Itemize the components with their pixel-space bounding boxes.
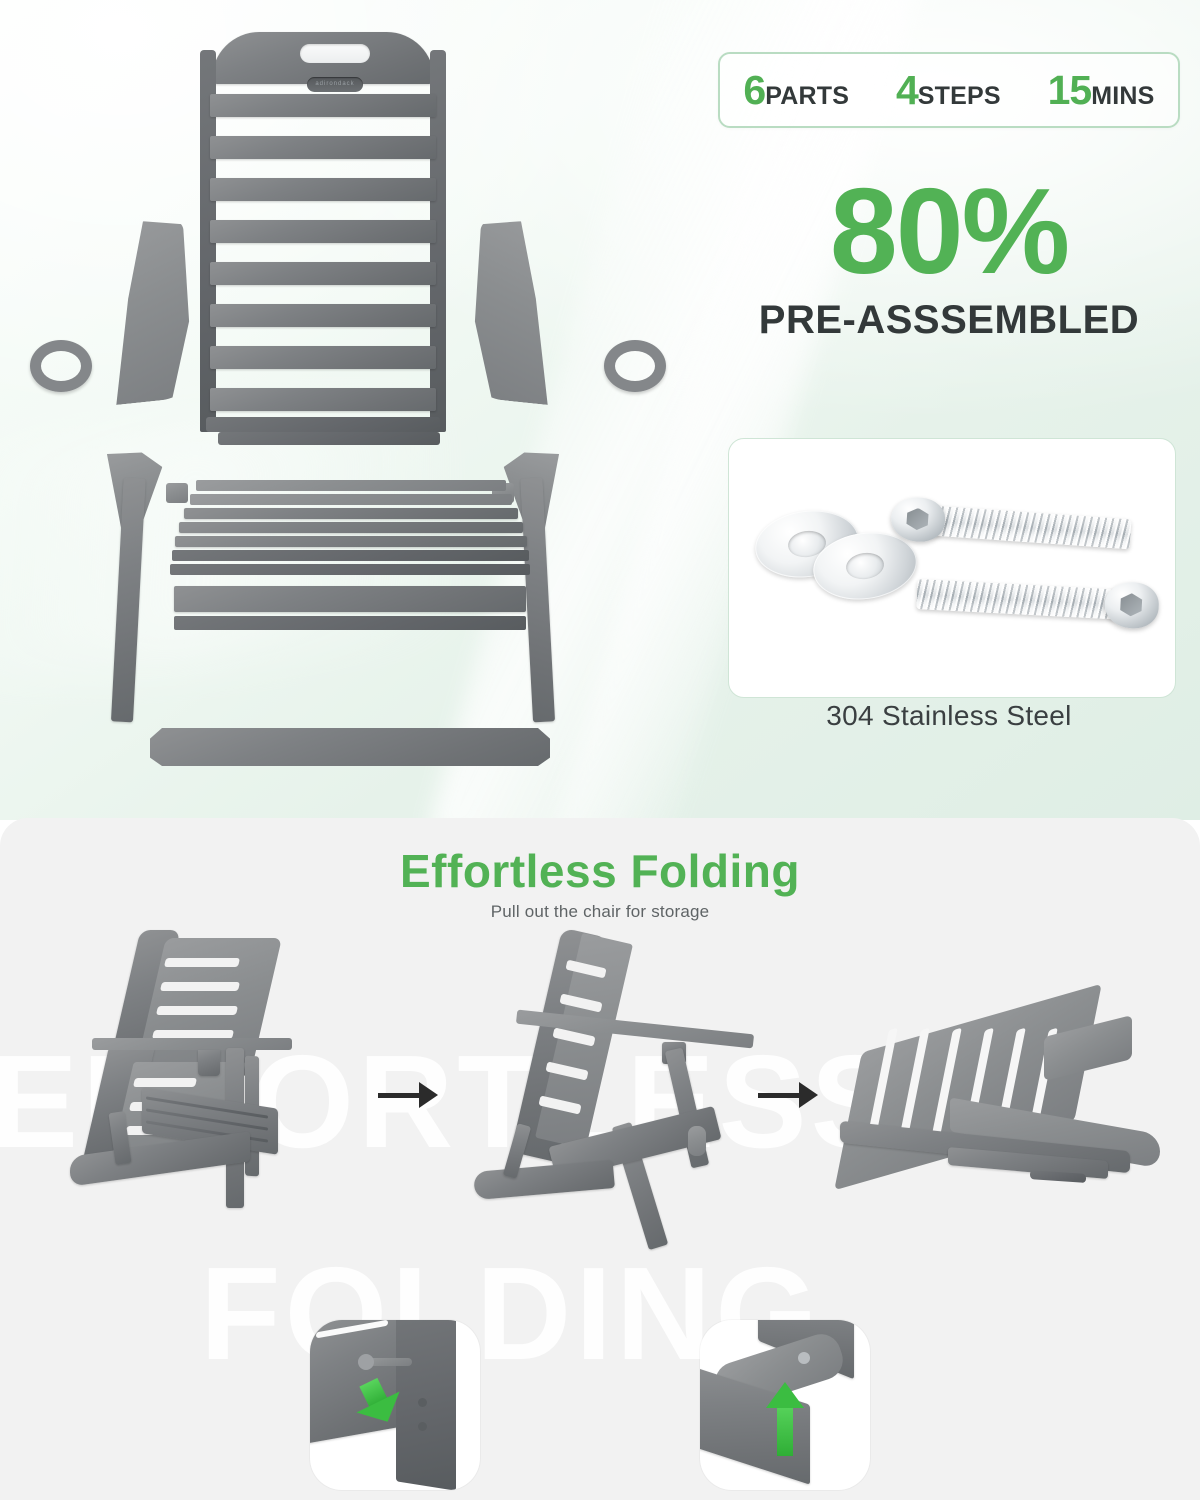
detail-leg-lift [700,1320,870,1490]
stat-parts-number: 6 [743,70,765,111]
bolt-upper-head [890,496,947,544]
stat-steps: 4 STEPS [896,70,1001,111]
back-slat [210,388,436,411]
hardware-caption: 304 Stainless Steel [718,700,1180,732]
back-slat [210,94,436,117]
arrow-head [799,1082,818,1108]
infographic-canvas: adirondack [0,0,1200,1500]
base-runner [473,1160,615,1200]
seat-slat [184,508,518,519]
stat-mins-unit: MINS [1091,84,1154,109]
detail-latch-release [310,1320,480,1490]
sequence-arrow-2 [758,1082,818,1108]
detail-screw [418,1398,427,1407]
back-slat [210,262,436,285]
stat-steps-unit: STEPS [918,84,1001,109]
seat-slat [190,494,512,505]
cup-holder-side [198,1050,220,1076]
bolt-lower [916,579,1125,620]
back-bottom-rail [206,417,440,432]
stat-parts-unit: PARTS [765,84,849,109]
seat-slat [179,522,523,533]
front-leg-left-shaft [111,478,146,723]
backrest-gap [133,1078,197,1087]
bottom-stretcher-bar [150,728,550,766]
seat-assembly [170,480,530,630]
seat-slat [170,564,530,575]
chair-folded-flat [830,1008,1180,1228]
preassembled-block: 80% PRE-ASSSEMBLED [718,170,1180,343]
armrest [92,1038,292,1050]
armrest-left [79,217,201,407]
preassembled-percent: 80% [718,170,1180,292]
hardware-card [728,438,1176,698]
arrow-line [758,1093,804,1098]
bolt-upper [924,505,1132,549]
back-slat [210,136,436,159]
stat-parts: 6 PARTS [743,70,849,111]
bolt-lower-head [1104,581,1160,630]
front-leg-left [105,451,153,722]
preassembled-caption: PRE-ASSSEMBLED [718,298,1180,343]
top-panel: adirondack [0,0,1200,820]
green-arrow-shaft [777,1404,793,1456]
cup-holder-left [30,340,92,392]
backrest-gap [164,958,240,967]
brand-logo-badge: adirondack [307,77,363,92]
armrest-left-blade [79,217,201,407]
detail-leg-art [700,1320,870,1490]
seat-slat [175,536,527,547]
assembly-stats-badge: 6 PARTS 4 STEPS 15 MINS [718,52,1180,128]
detail-screw [798,1352,810,1364]
detail-latch-art [310,1320,480,1490]
stat-mins: 15 MINS [1048,70,1155,111]
detail-screw [418,1422,427,1431]
arrow-line [378,1093,424,1098]
stat-mins-number: 15 [1048,70,1092,111]
back-slat [210,178,436,201]
brand-logo-text: adirondack [307,77,363,92]
green-arrow-up-icon [766,1382,804,1456]
carry-handle-cutout [300,44,370,63]
detail-bolt-head [358,1354,374,1370]
backrest-gap [156,1006,238,1015]
backrest-gap [160,982,240,991]
bolt-lower-shaft [916,579,1125,620]
cup-holder-right [604,340,666,392]
seat-front-panel [174,586,526,612]
seat-slat [172,550,529,561]
green-arrow-head [766,1382,804,1408]
latch [688,1126,706,1156]
folding-subtitle: Pull out the chair for storage [0,902,1200,922]
stat-steps-number: 4 [896,70,918,111]
chair-half-folded [450,930,790,1230]
washer-hole [844,550,885,581]
back-slat [210,220,436,243]
folding-title: Effortless Folding [0,844,1200,898]
arrow-head [419,1082,438,1108]
chair-open [30,930,360,1230]
seat-front-lip [174,616,526,630]
back-slat [210,304,436,327]
armrest-right-blade [463,217,585,407]
bolt-upper-shaft [924,505,1132,549]
armrest-right [463,217,585,407]
back-cross-bar [218,432,440,445]
chair-back-panel: adirondack [200,32,446,432]
folding-panel: EFFORTLESS FOLDING Effortless Folding Pu… [0,818,1200,1500]
sequence-arrow-1 [378,1082,438,1108]
seat-slat [196,480,506,491]
back-slat [210,346,436,369]
back-top-arc: adirondack [212,32,434,84]
